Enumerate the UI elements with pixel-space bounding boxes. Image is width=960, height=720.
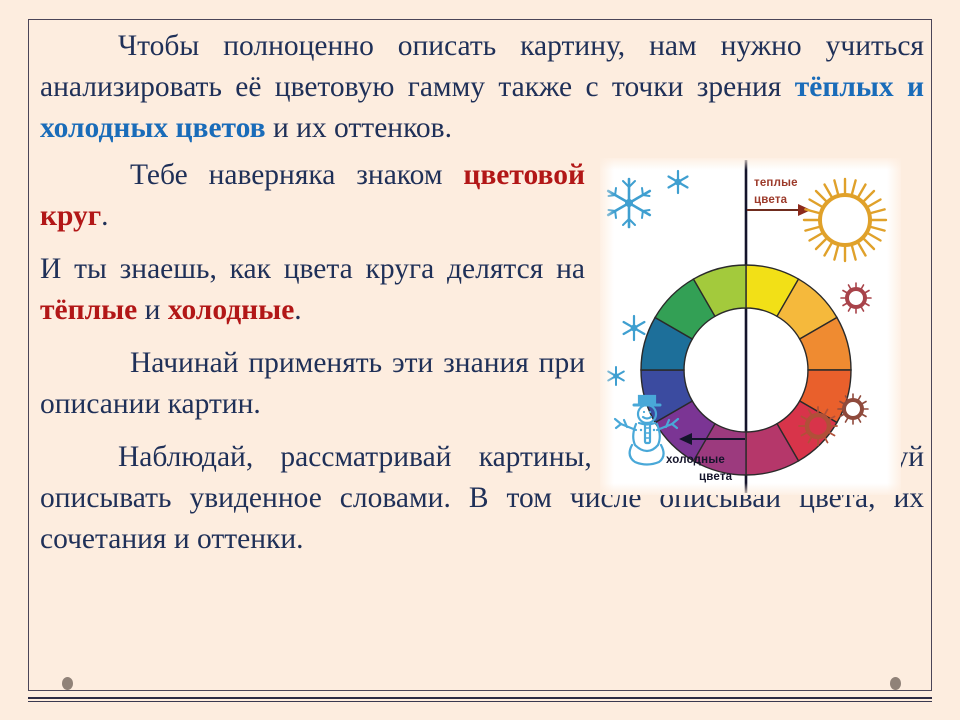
paragraph-2-text-c: .: [101, 200, 108, 232]
paragraph-3-highlight-warm: тёплые: [40, 294, 137, 326]
paragraph-3-text-a: И ты знаешь, как цвета круга делятся на: [40, 253, 585, 285]
cold-label-line1: холодные: [666, 454, 725, 466]
paragraph-1-text-c: и их оттенков.: [266, 112, 452, 144]
paragraph-2-text-a: Тебе наверняка знаком: [130, 159, 463, 191]
bottom-divider: [28, 697, 932, 702]
warm-label-line2: цвета: [754, 194, 788, 206]
paragraph-3-text-e: .: [294, 294, 301, 326]
paragraph-3-text-c: и: [137, 294, 168, 326]
paragraph-1-text-a: Чтобы полноценно описать картину, нам ну…: [40, 30, 924, 103]
paragraph-1: Чтобы полноценно описать картину, нам ну…: [40, 26, 924, 149]
paragraph-3-highlight-cold: холодные: [168, 294, 294, 326]
decorative-dot-left: [62, 677, 73, 690]
color-wheel-figure: теплые цвета холодные цвета: [600, 158, 901, 495]
paragraph-4: Начинай применять эти знания при описани…: [40, 343, 585, 425]
cold-label-line2: цвета: [699, 471, 733, 483]
warm-label-line1: теплые: [754, 177, 798, 189]
slide-canvas: Чтобы полноценно описать картину, нам ну…: [0, 0, 960, 720]
paragraph-2: Тебе наверняка знаком цветовой круг.: [40, 155, 585, 237]
color-wheel-graphic: теплые цвета холодные цвета: [600, 158, 901, 495]
paragraph-3: И ты знаешь, как цвета круга делятся на …: [40, 249, 585, 331]
decorative-dot-right: [890, 677, 901, 690]
